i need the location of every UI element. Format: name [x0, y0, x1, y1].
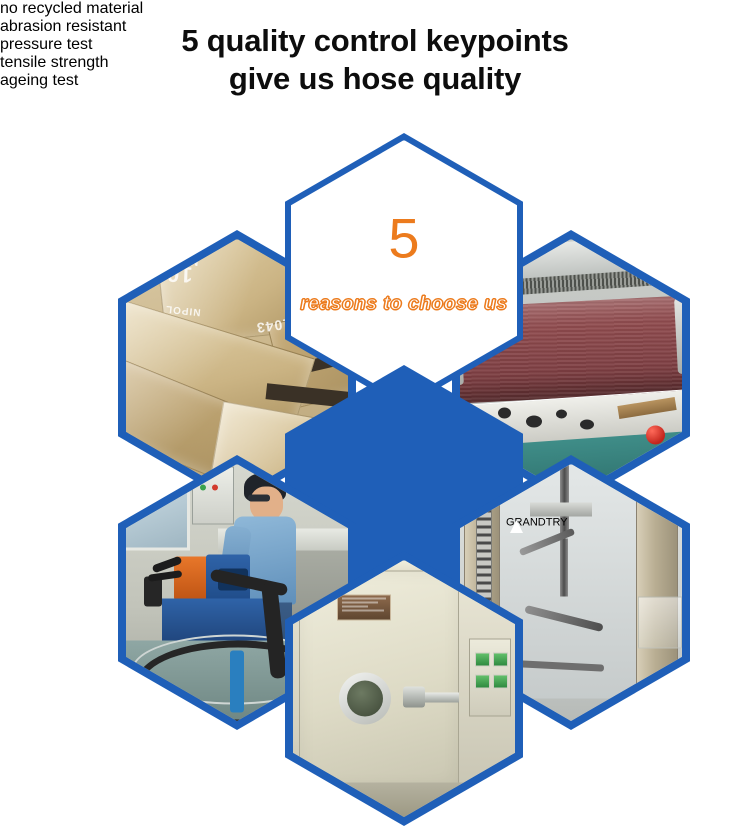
hexagon-honeycomb: NIPOL NIPOL 1043 NIPOL 1043 SG — [0, 0, 750, 800]
hex-photo-ageing-test — [293, 560, 515, 817]
reasons-number: 5 — [291, 210, 517, 266]
reasons-caption: reasons to choose us — [291, 294, 517, 316]
hex-badge-face: 5 reasons to choose us — [291, 140, 517, 401]
scene-ageing-oven — [293, 560, 515, 817]
